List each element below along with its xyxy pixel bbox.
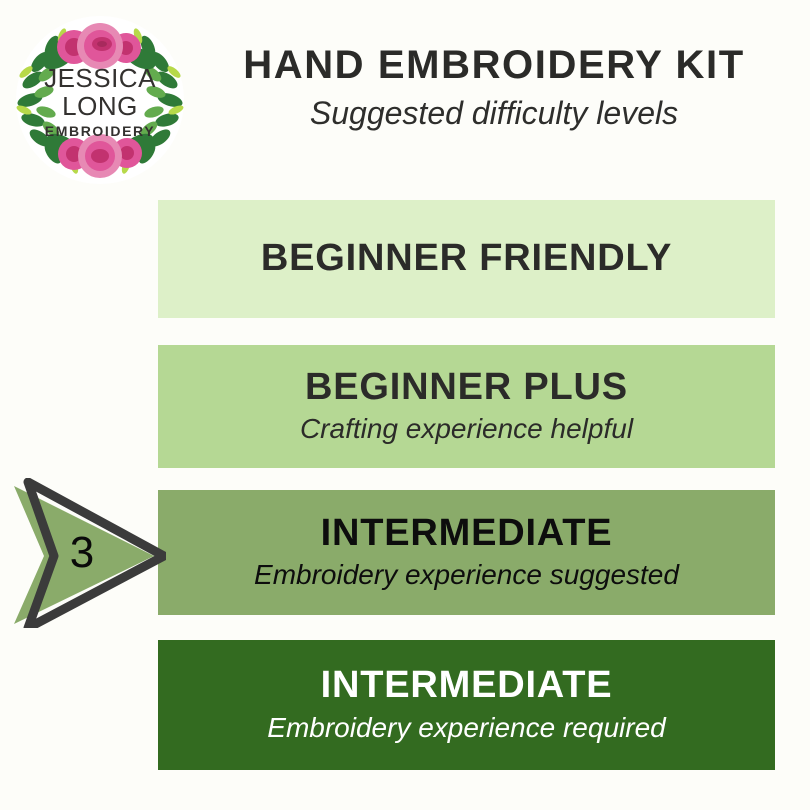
level-bar: INTERMEDIATEEmbroidery experience requir…: [158, 640, 775, 770]
level-bar: BEGINNER FRIENDLY: [158, 200, 775, 318]
level-name: INTERMEDIATE: [321, 665, 613, 707]
level-name: INTERMEDIATE: [321, 513, 613, 555]
wreath-logo-icon: JESSICA LONG EMBROIDERY: [14, 14, 186, 186]
level-bar: INTERMEDIATEEmbroidery experience sugges…: [158, 490, 775, 615]
level-name: BEGINNER PLUS: [305, 367, 628, 409]
logo-line-1: JESSICA: [44, 63, 156, 93]
header: JESSICA LONG EMBROIDERY HAND EMBROIDERY …: [0, 0, 810, 192]
page-title: HAND EMBROIDERY KIT: [190, 42, 798, 88]
level-description: Embroidery experience required: [267, 710, 665, 745]
brand-logo: JESSICA LONG EMBROIDERY: [14, 14, 186, 186]
page-subtitle: Suggested difficulty levels: [190, 92, 798, 135]
difficulty-level-list: BEGINNER FRIENDLYBEGINNER PLUSCrafting e…: [158, 200, 775, 770]
level-description: Crafting experience helpful: [300, 411, 633, 446]
arrow-marker-icon: [6, 478, 166, 628]
logo-line-3: EMBROIDERY: [45, 123, 155, 139]
level-name: BEGINNER FRIENDLY: [261, 238, 672, 280]
title-block: HAND EMBROIDERY KIT Suggested difficulty…: [190, 42, 798, 135]
logo-line-2: LONG: [62, 91, 138, 121]
level-description: Embroidery experience suggested: [254, 557, 679, 592]
current-level-marker: 3: [6, 478, 166, 628]
level-bar: BEGINNER PLUSCrafting experience helpful: [158, 345, 775, 468]
